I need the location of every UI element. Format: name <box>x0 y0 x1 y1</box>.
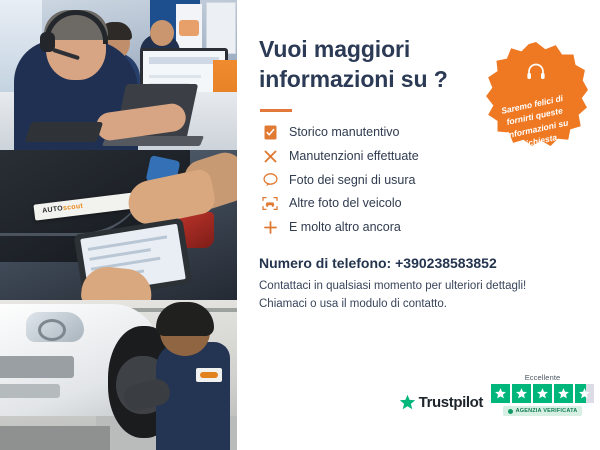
document-check-icon <box>259 125 281 140</box>
trustpilot-widget[interactable]: Trustpilot Eccellente AGENZIA VERIFICATA <box>399 373 594 416</box>
star-4 <box>554 384 573 403</box>
star-1 <box>491 384 510 403</box>
phone-number-line: Numero di telefono: +390238583852 <box>259 255 600 271</box>
feature-label: E molto altro ancora <box>289 220 401 234</box>
feature-label: Storico manutentivo <box>289 125 399 139</box>
strip-brand-text: AUTOscout <box>42 203 84 215</box>
phone-number[interactable]: +390238583852 <box>395 255 497 271</box>
feature-label: Altre foto del veicolo <box>289 196 402 210</box>
star-5-partial <box>575 384 594 403</box>
trustpilot-rating-label: Eccellente <box>525 373 561 382</box>
feature-item-altro: E molto altro ancora <box>259 220 600 235</box>
star-3 <box>533 384 552 403</box>
feature-item-foto-usura: Foto dei segni di usura <box>259 173 600 187</box>
feature-label: Foto dei segni di usura <box>289 173 415 187</box>
car-paint-inspection-photo: AUTOscout <box>0 150 237 300</box>
car-frame-icon <box>259 196 281 211</box>
phone-label: Numero di telefono: <box>259 255 391 271</box>
verified-agency-badge: AGENZIA VERIFICATA <box>503 406 583 416</box>
headset-icon <box>526 62 546 85</box>
contact-line-1: Contattaci in qualsiasi momento per ulte… <box>259 278 600 296</box>
trustpilot-logo: Trustpilot <box>399 394 483 416</box>
call-center-agents-photo <box>0 0 237 150</box>
promo-card: AUTOscout <box>0 0 600 450</box>
title-divider <box>260 109 292 112</box>
verified-label: AGENZIA VERIFICATA <box>516 408 578 414</box>
photo-column: AUTOscout <box>0 0 237 450</box>
verified-check-icon <box>508 409 513 414</box>
mechanic-wheel-photo <box>0 300 237 450</box>
plus-icon <box>259 220 281 235</box>
contact-line-2: Chiamaci o usa il modulo di contatto. <box>259 296 600 314</box>
feature-item-altre-foto: Altre foto del veicolo <box>259 196 600 211</box>
trustpilot-name: Trustpilot <box>419 394 483 411</box>
feature-label: Manutenzioni effettuate <box>289 149 419 163</box>
content-panel: Vuoi maggiori informazioni su ? Storico … <box>237 0 600 450</box>
star-2 <box>512 384 531 403</box>
speech-bubble-icon <box>259 173 281 187</box>
feature-item-manutenzioni: Manutenzioni effettuate <box>259 149 600 164</box>
wrench-tools-icon <box>259 149 281 164</box>
trustpilot-stars <box>491 384 594 403</box>
contact-instructions: Contattaci in qualsiasi momento per ulte… <box>259 278 600 314</box>
page-title: Vuoi maggiori informazioni su ? <box>259 34 474 95</box>
trustpilot-star-icon <box>399 394 416 411</box>
